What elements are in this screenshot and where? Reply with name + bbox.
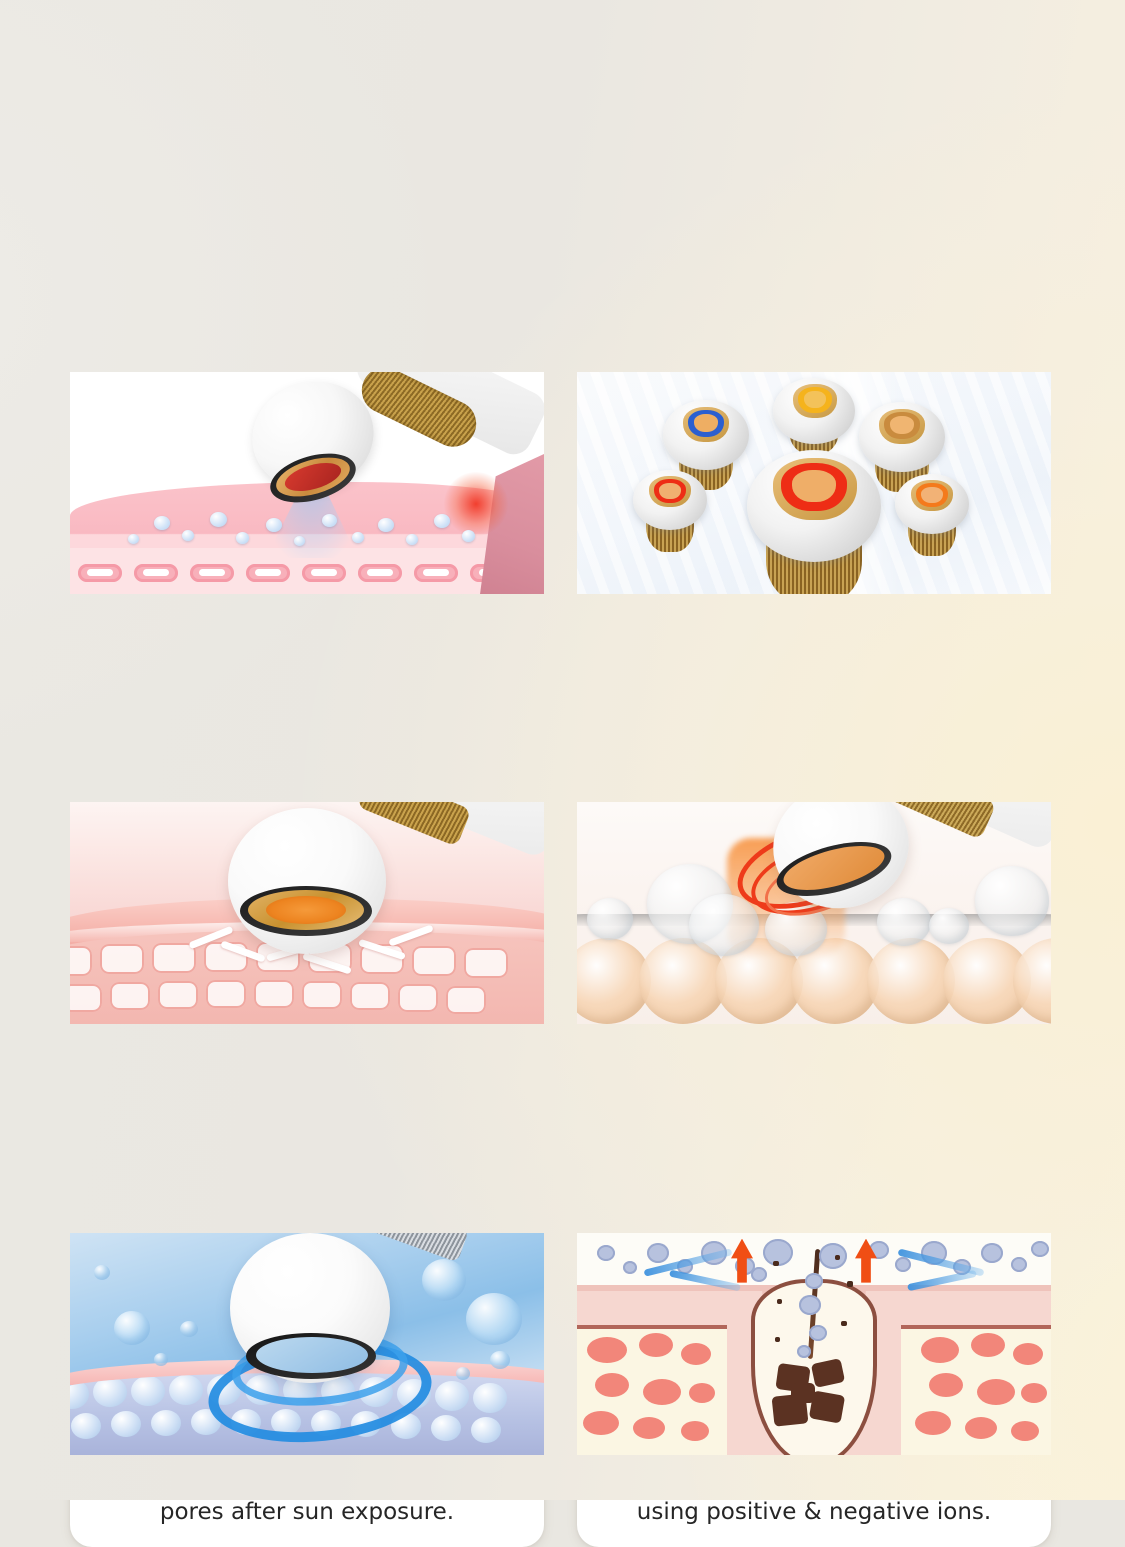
page-title: 6 Advanced Beauty Technologies for Visib…	[62, 58, 1063, 160]
led-head-main-red	[747, 450, 881, 594]
card-title: Bio-Pulse Therapy	[193, 333, 422, 362]
card-caption-wrap: Deep-cleanses and infuses nutrients usin…	[577, 1455, 1051, 1547]
card-caption: Gentle warmth opens pores, softens skin …	[593, 1053, 1035, 1112]
card-caption: Firms facial contours and awakens skin w…	[86, 623, 528, 682]
led-head-orange	[895, 474, 969, 562]
card-title: 5-Color LED Light	[704, 333, 925, 362]
feature-card-high-frequency-vibration[interactable]: High-Frequency Vibration	[70, 752, 544, 1146]
feature-card-5-color-led-light[interactable]: 5-Color LED Light	[577, 322, 1051, 716]
feature-card-ionic-import-export[interactable]: Ionic Import/Export	[577, 1183, 1051, 1547]
ionic-illustration	[577, 1233, 1051, 1455]
card-caption-wrap: Gentle warmth opens pores, softens skin …	[577, 1024, 1051, 1146]
feature-card-bio-pulse-therapy[interactable]: Bio-Pulse Therapy	[70, 322, 544, 716]
feature-card-cooling-ice-compress[interactable]: Cooling Ice Compress	[70, 1183, 544, 1547]
card-title: Ionic Import/Export	[692, 1194, 936, 1223]
card-caption-wrap: Boosts circulation and supports lymphati…	[70, 1024, 544, 1146]
vibration-illustration	[70, 802, 544, 1024]
card-caption: Each light targets specific skin concern…	[593, 608, 1035, 696]
thermal-heat-illustration	[577, 802, 1051, 1024]
card-header: Cooling Ice Compress	[72, 1185, 542, 1233]
card-title: High-Frequency Vibration	[146, 764, 467, 793]
card-header: 5-Color LED Light	[579, 324, 1049, 372]
card-caption-wrap: Each light targets specific skin concern…	[577, 594, 1051, 716]
led-light-illustration	[577, 372, 1051, 594]
page-subtitle: From deep cleansing to collagen support,…	[62, 188, 1063, 270]
hero-section: 6 Advanced Beauty Technologies for Visib…	[0, 0, 1125, 270]
card-header: Bio-Pulse Therapy	[72, 324, 542, 372]
feature-card-thermal-heat[interactable]: Thermal Heat (Warm Compress)	[577, 752, 1051, 1146]
card-caption: Deep-cleanses and infuses nutrients usin…	[593, 1469, 1035, 1528]
bio-pulse-illustration	[70, 372, 544, 594]
card-caption: Boosts circulation and supports lymphati…	[86, 1038, 528, 1126]
card-caption-wrap: Cools down irritated skin and tightens p…	[70, 1455, 544, 1547]
card-caption-wrap: Firms facial contours and awakens skin w…	[70, 594, 544, 716]
led-head-red-small	[633, 470, 707, 558]
card-title: Cooling Ice Compress	[170, 1194, 444, 1223]
led-head-yellow	[773, 378, 855, 452]
feature-card-grid: Bio-Pulse Therapy	[70, 322, 1055, 1547]
card-caption: Cools down irritated skin and tightens p…	[86, 1469, 528, 1528]
card-header: Thermal Heat (Warm Compress)	[579, 754, 1049, 802]
card-header: High-Frequency Vibration	[72, 754, 542, 802]
card-header: Ionic Import/Export	[579, 1185, 1049, 1233]
cooling-illustration	[70, 1233, 544, 1455]
card-title: Thermal Heat (Warm Compress)	[610, 764, 1018, 793]
infographic-page: 6 Advanced Beauty Technologies for Visib…	[0, 0, 1125, 1500]
